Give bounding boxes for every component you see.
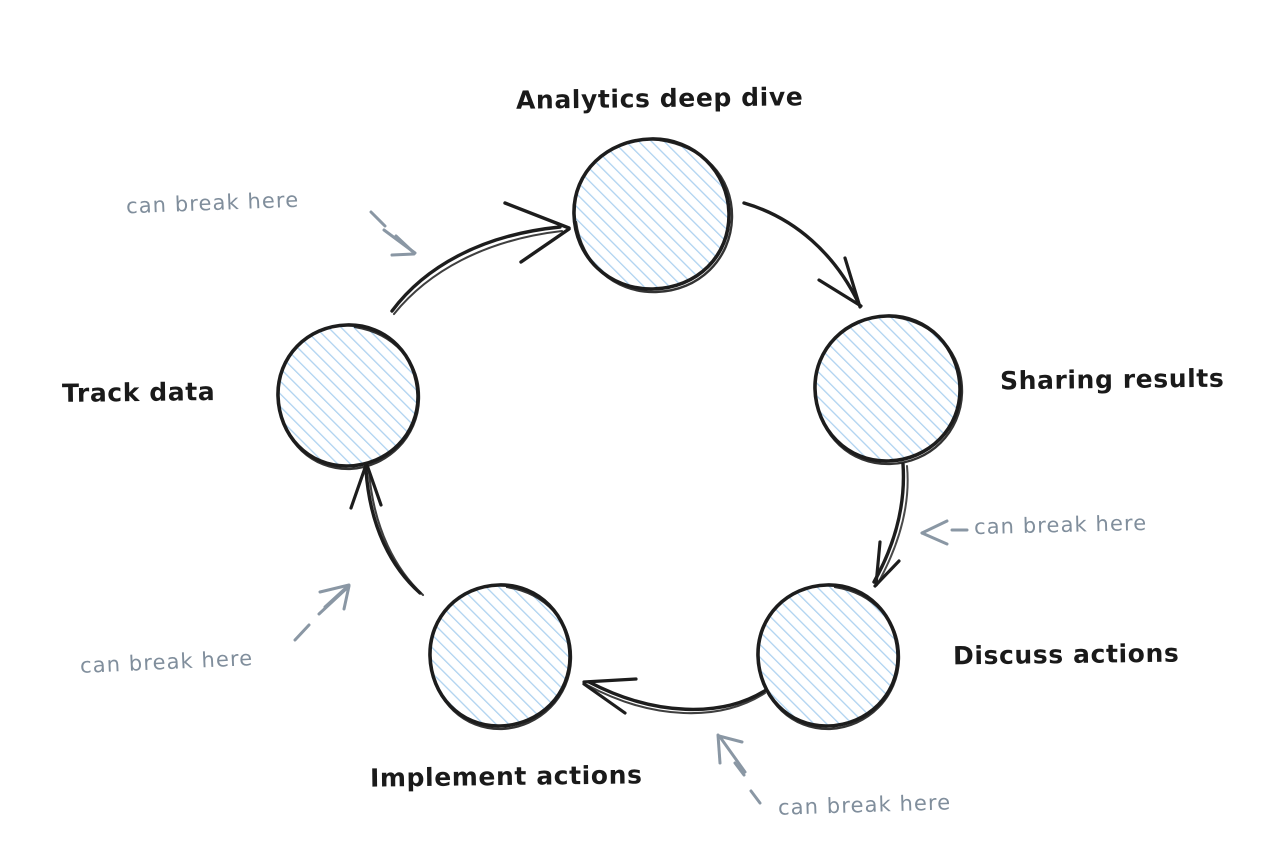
connector-track-to-analytics [392, 203, 569, 314]
annotation-arrow-down-right [371, 212, 415, 255]
node-track-data[interactable] [278, 325, 419, 469]
node-layer [278, 139, 962, 729]
cycle-diagram-canvas: Analytics deep dive Sharing results Disc… [0, 0, 1288, 856]
node-label-track-data: Track data [62, 377, 216, 408]
diagram-svg-layer [0, 0, 1288, 856]
annotation-arrow-up-right [295, 585, 349, 640]
connector-analytics-to-sharing [744, 203, 861, 307]
node-label-discuss-actions: Discuss actions [953, 639, 1180, 671]
node-label-sharing-results: Sharing results [1000, 364, 1225, 396]
node-discuss-actions[interactable] [758, 585, 899, 729]
connector-implement-to-track [351, 465, 423, 595]
connector-discuss-to-implement [584, 679, 766, 713]
connector-sharing-to-discuss [874, 464, 908, 586]
annotation-arrow-up-left [718, 735, 760, 803]
node-label-implement-actions: Implement actions [370, 760, 643, 792]
node-label-analytics-deep-dive: Analytics deep dive [516, 82, 804, 115]
node-sharing-results[interactable] [815, 316, 962, 464]
node-analytics-deep-dive[interactable] [574, 139, 732, 292]
annotation-label-break-right: can break here [974, 511, 1148, 539]
node-implement-actions[interactable] [430, 585, 571, 729]
annotation-arrow-left [922, 521, 967, 544]
